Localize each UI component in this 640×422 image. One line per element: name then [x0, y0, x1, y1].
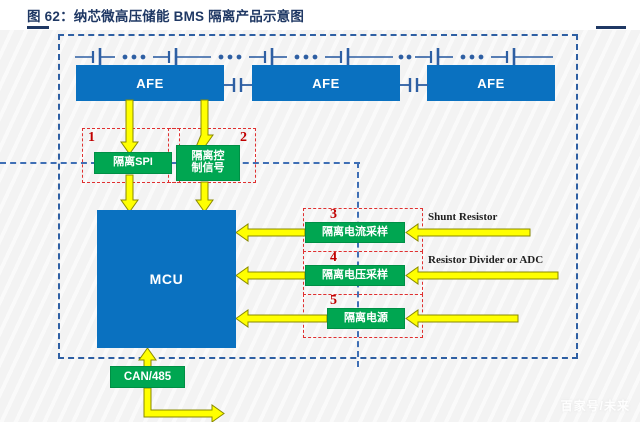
isolation-module-4[interactable]: 隔离电压采样 — [305, 265, 405, 286]
watermark: 百家号/未来 — [561, 397, 630, 414]
title-rule-right — [596, 26, 626, 29]
isolation-module-1-label: 隔离SPI — [113, 157, 153, 169]
isolation-module-2-line1: 隔离控 — [192, 150, 225, 162]
isolation-module-2-label: 隔离控 制信号 — [192, 151, 225, 174]
diagram-page: 图 62：纳芯微高压储能 BMS 隔离产品示意图 — [0, 0, 640, 422]
isolation-module-3[interactable]: 隔离电流采样 — [305, 222, 405, 243]
isolation-module-5-label: 隔离电源 — [344, 313, 388, 325]
mcu-label: MCU — [150, 271, 184, 287]
title-rule-left — [27, 26, 49, 29]
isolation-module-2-line2: 制信号 — [192, 162, 225, 174]
isolation-module-1[interactable]: 隔离SPI — [94, 152, 172, 174]
isolation-module-3-label: 隔离电流采样 — [322, 227, 388, 239]
isolation-module-4-label: 隔离电压采样 — [322, 270, 388, 282]
resistor-divider-label: Resistor Divider or ADC — [428, 254, 543, 266]
shunt-resistor-label: Shunt Resistor — [428, 211, 497, 223]
diagram-canvas: AFE AFE AFE — [0, 30, 640, 422]
isolation-module-2[interactable]: 隔离控 制信号 — [176, 145, 240, 181]
can-485-label: CAN/485 — [124, 371, 171, 383]
can-485-block[interactable]: CAN/485 — [110, 366, 185, 388]
page-title: 图 62：纳芯微高压储能 BMS 隔离产品示意图 — [27, 5, 304, 25]
mcu-block[interactable]: MCU — [97, 210, 236, 348]
isolation-module-5[interactable]: 隔离电源 — [327, 308, 405, 329]
